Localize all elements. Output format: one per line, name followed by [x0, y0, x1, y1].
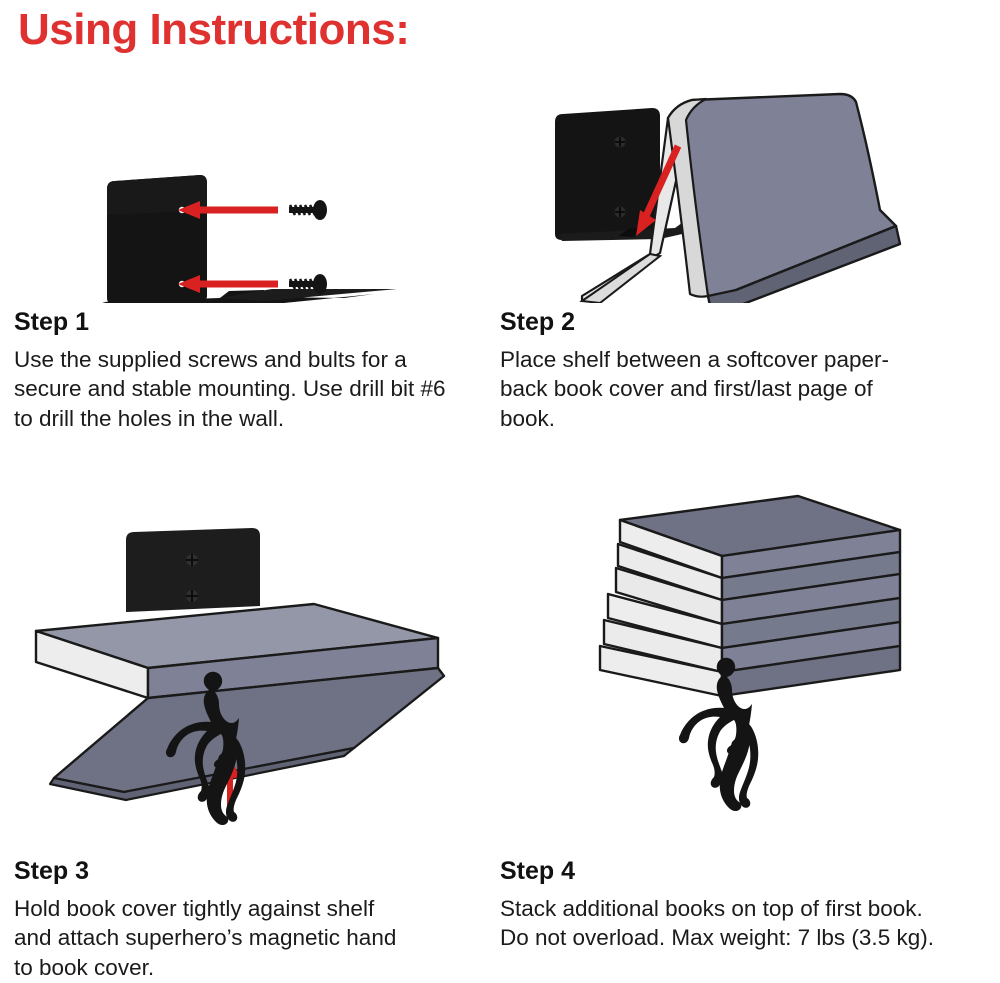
book-cover — [668, 94, 900, 303]
book-stack — [600, 496, 900, 696]
screw-head-top — [615, 137, 626, 148]
instruction-sheet: Using Instructions: — [0, 0, 1000, 979]
step-4-body: Stack additional books on top of first b… — [500, 894, 970, 953]
step-3-illustration — [14, 478, 500, 858]
step-3-heading: Step 3 — [14, 858, 500, 886]
step-1-illustration — [14, 58, 500, 303]
step-1-body: Use the supplied screws and bults for a … — [14, 345, 484, 434]
screw-head-top — [186, 554, 198, 566]
step-card-3: Step 3 Hold book cover tightly against s… — [14, 478, 500, 983]
step-card-1: Step 1 Use the supplied screws and bults… — [14, 58, 500, 434]
screw-head-bottom — [615, 207, 626, 218]
step-card-4: Step 4 Stack additional books on top of … — [500, 478, 986, 953]
step-card-2: Step 2 Place shelf between a softcover p… — [500, 58, 986, 434]
step-2-body: Place shelf between a softcover paper- b… — [500, 345, 970, 434]
step-4-heading: Step 4 — [500, 858, 986, 886]
page-title: Using Instructions: — [18, 0, 986, 52]
step-2-illustration — [500, 58, 986, 303]
step-3-body: Hold book cover tightly against shelf an… — [14, 894, 484, 983]
step-1-heading: Step 1 — [14, 309, 500, 337]
step-2-heading: Step 2 — [500, 309, 986, 337]
screw-head-bottom — [186, 590, 198, 602]
book-cover-hanging — [50, 668, 444, 800]
step-4-illustration — [500, 478, 986, 858]
steps-grid: Step 1 Use the supplied screws and bults… — [14, 58, 986, 958]
screw-top — [289, 200, 327, 220]
